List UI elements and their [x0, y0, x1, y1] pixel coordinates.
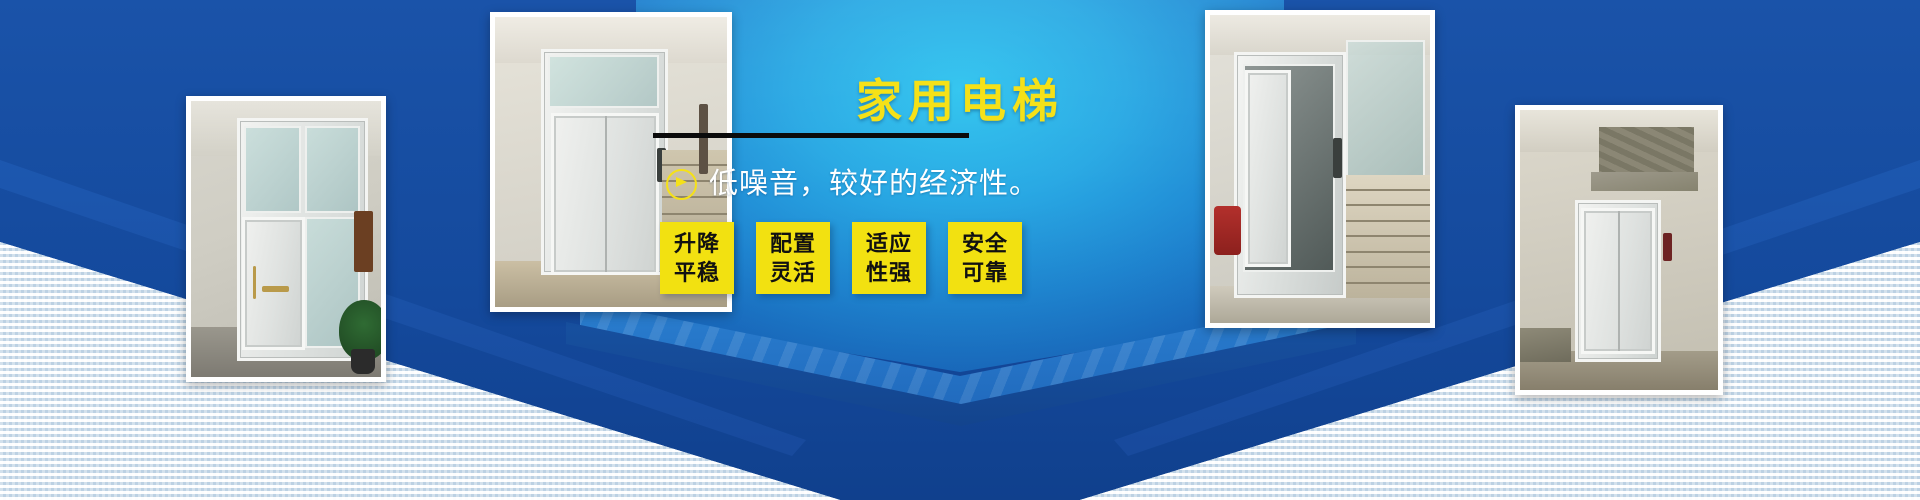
badge-line-1: 适应	[866, 229, 912, 258]
title-divider	[653, 133, 969, 138]
feature-badge[interactable]: 适应 性强	[852, 222, 926, 294]
feature-badge[interactable]: 安全 可靠	[948, 222, 1022, 294]
center-content: 家用电梯 低噪音，较好的经济性。 升降 平稳 配置 灵活 适应 性强 安全 可靠	[636, 0, 1284, 500]
feature-badge-list: 升降 平稳 配置 灵活 适应 性强 安全 可靠	[660, 222, 1022, 294]
badge-line-2: 可靠	[962, 258, 1008, 287]
page-title: 家用电梯	[636, 74, 1284, 128]
home-elevator-banner: 家用电梯 低噪音，较好的经济性。 升降 平稳 配置 灵活 适应 性强 安全 可靠	[0, 0, 1920, 500]
feature-badge[interactable]: 配置 灵活	[756, 222, 830, 294]
tagline-text: 低噪音，较好的经济性。	[709, 166, 1039, 202]
tagline: 低噪音，较好的经济性。	[666, 166, 1266, 202]
badge-line-1: 配置	[770, 229, 816, 258]
photo-elevator-installation-bare-room	[1515, 105, 1723, 395]
feature-badge[interactable]: 升降 平稳	[660, 222, 734, 294]
badge-line-2: 平稳	[674, 258, 720, 287]
badge-line-2: 性强	[866, 258, 912, 287]
badge-line-1: 升降	[674, 229, 720, 258]
photo-home-elevator-glass-shaft-stairs	[186, 96, 386, 382]
badge-line-2: 灵活	[770, 258, 816, 287]
circle-play-arrow-icon	[666, 169, 697, 200]
badge-line-1: 安全	[962, 229, 1008, 258]
